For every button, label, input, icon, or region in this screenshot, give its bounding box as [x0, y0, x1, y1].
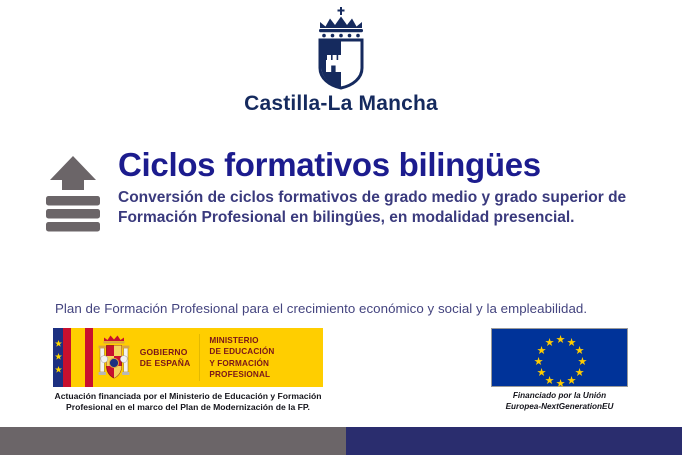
bottom-bar-gray-segment: [0, 427, 346, 455]
gobierno-line-2: DE ESPAÑA: [140, 358, 191, 369]
gobierno-funding-caption: Actuación financiada por el Ministerio d…: [53, 391, 323, 413]
eu-caption-line-1: Financiado por la Unión: [491, 391, 628, 402]
european-union-funding-caption: Financiado por la Unión Europea-NextGene…: [491, 391, 628, 412]
gobierno-line-1: GOBIERNO: [140, 347, 191, 358]
ministerio-line-3: Y FORMACIÓN PROFESIONAL: [209, 358, 323, 380]
bottom-bar-navy-segment: [346, 427, 682, 455]
european-union-block: ★ ★ ★ ★ ★ ★ ★ ★ ★ ★ ★ ★ Financiado por l…: [491, 328, 628, 412]
castilla-la-mancha-coat-of-arms-icon: [308, 6, 374, 90]
logo-divider: [199, 334, 200, 381]
spain-coat-of-arms-icon: [93, 328, 136, 387]
ministerio-line-1: MINISTERIO: [209, 335, 323, 346]
title-row: Ciclos formativos bilingües Conversión d…: [44, 148, 644, 232]
gobierno-logo-block: GOBIERNO DE ESPAÑA MINISTERIO DE EDUCACI…: [53, 328, 323, 413]
eu-strip-icon: [53, 328, 63, 387]
gobierno-label: GOBIERNO DE ESPAÑA: [136, 328, 191, 387]
eu-caption-line-2: Europea-NextGenerationEU: [491, 402, 628, 413]
european-union-flag-icon: ★ ★ ★ ★ ★ ★ ★ ★ ★ ★ ★ ★: [491, 328, 628, 387]
bottom-decoration-bar: [0, 427, 682, 455]
page-subtitle: Conversión de ciclos formativos de grado…: [118, 188, 628, 229]
title-text-group: Ciclos formativos bilingües Conversión d…: [104, 148, 644, 229]
ministerio-line-2: DE EDUCACIÓN: [209, 346, 323, 357]
region-name-label: Castilla-La Mancha: [0, 92, 682, 116]
ministerio-label: MINISTERIO DE EDUCACIÓN Y FORMACIÓN PROF…: [209, 328, 323, 387]
header-emblem-block: Castilla-La Mancha: [0, 6, 682, 116]
page-title: Ciclos formativos bilingües: [118, 148, 644, 183]
plan-description-line: Plan de Formación Profesional para el cr…: [55, 301, 587, 316]
upload-arrow-icon: [44, 148, 104, 232]
slide-canvas: Castilla-La Mancha Ciclos formativos bil…: [0, 0, 682, 455]
gobierno-de-espana-logo: GOBIERNO DE ESPAÑA MINISTERIO DE EDUCACI…: [53, 328, 323, 387]
spanish-flag-bands-icon: [63, 328, 93, 387]
